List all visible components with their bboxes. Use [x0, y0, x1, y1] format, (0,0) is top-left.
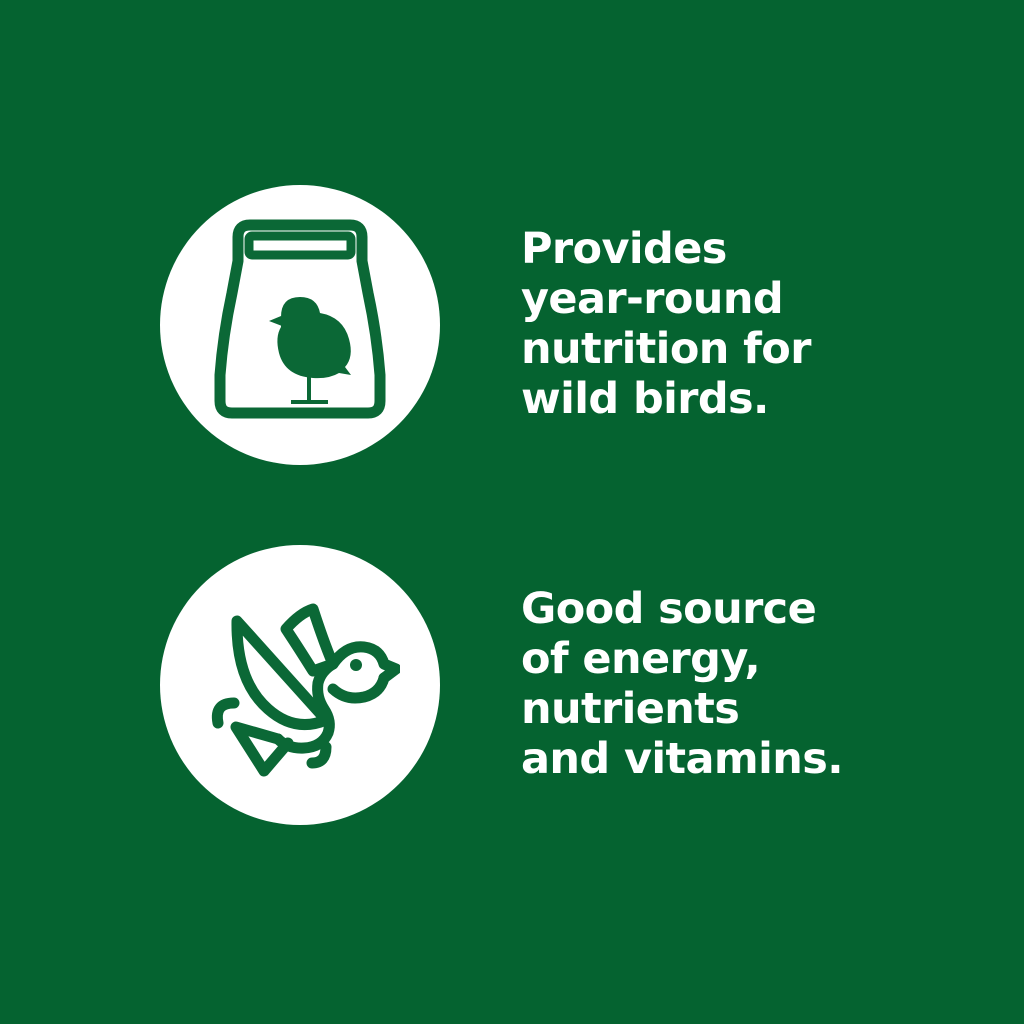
benefit-text-nutrition: Provides year-round nutrition for wild b…: [521, 224, 921, 424]
feed-bag-with-bird-icon: [205, 215, 395, 435]
bird-eye-icon: [350, 659, 362, 671]
flying-bird-icon: [200, 585, 400, 785]
benefit-text-energy: Good source of energy, nutrients and vit…: [521, 584, 921, 784]
benefit-item-nutrition: Provides year-round nutrition for wild b…: [0, 185, 1024, 465]
chick-silhouette-icon: [269, 297, 351, 404]
benefit-item-energy: Good source of energy, nutrients and vit…: [0, 545, 1024, 825]
flying-bird-icon-badge: [160, 545, 440, 825]
feed-bag-with-bird-icon-badge: [160, 185, 440, 465]
benefits-panel: Provides year-round nutrition for wild b…: [0, 0, 1024, 1024]
